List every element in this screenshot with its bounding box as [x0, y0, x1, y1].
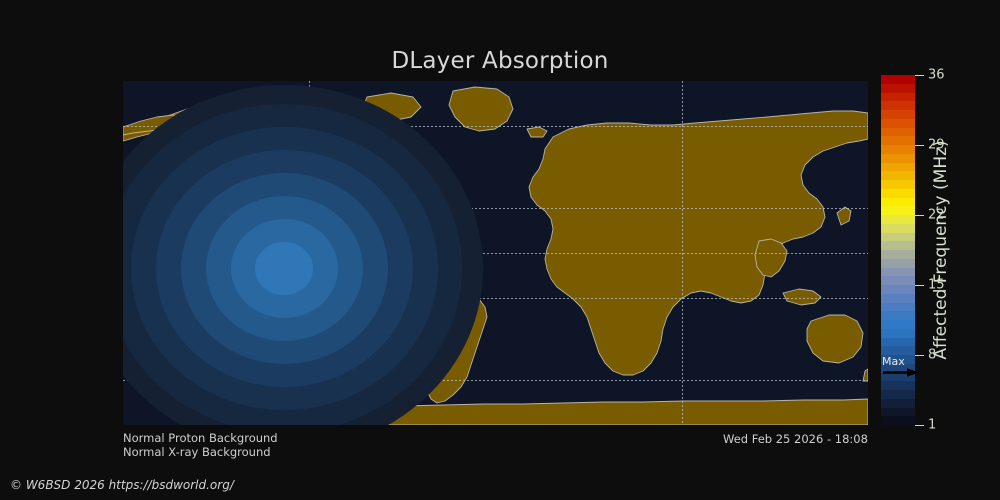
timestamp: Wed Feb 25 2026 - 18:08: [723, 432, 868, 446]
colorbar-segment: [881, 224, 915, 233]
colorbar-segment: [881, 399, 915, 408]
dlayer-absorption-screen: DLayer Absorption: [0, 0, 1000, 500]
colorbar-segment: [881, 303, 915, 312]
colorbar-segment: [881, 75, 915, 84]
colorbar-segment: [881, 250, 915, 259]
colorbar-segment: [881, 276, 915, 285]
colorbar-segment: [881, 206, 915, 215]
world-map[interactable]: [123, 81, 868, 425]
colorbar-segment: [881, 101, 915, 110]
colorbar-segment: [881, 163, 915, 172]
copyright-notice: © W6BSD 2026 https://bsdworld.org/: [10, 478, 234, 492]
colorbar-segment: [881, 381, 915, 390]
colorbar-segment: [881, 189, 915, 198]
colorbar-segment: [881, 110, 915, 119]
colorbar-segment: [881, 338, 915, 347]
colorbar-segment: [881, 154, 915, 163]
colorbar-segment: [881, 390, 915, 399]
colorbar-segment: [881, 416, 915, 425]
colorbar-tick-mark: [915, 145, 924, 146]
colorbar-segment: [881, 136, 915, 145]
colorbar-tick-mark: [915, 425, 924, 426]
colorbar-segment: [881, 285, 915, 294]
colorbar-segment: [881, 329, 915, 338]
colorbar-segment: [881, 119, 915, 128]
colorbar-segment: [881, 259, 915, 268]
colorbar-segment: [881, 198, 915, 207]
colorbar-segment: [881, 346, 915, 355]
max-marker-label: Max: [882, 355, 905, 368]
colorbar-segment: [881, 180, 915, 189]
gridline-lon-90: [682, 81, 683, 425]
colorbar-segment: [881, 128, 915, 137]
colorbar-segment: [881, 408, 915, 417]
colorbar-segment: [881, 311, 915, 320]
colorbar-segment: [881, 268, 915, 277]
colorbar-segment: [881, 294, 915, 303]
proton-status-text: Normal Proton Background: [123, 431, 278, 445]
colorbar-segment: [881, 320, 915, 329]
colorbar-segment: [881, 84, 915, 93]
colorbar-segment: [881, 241, 915, 250]
page-title: DLayer Absorption: [0, 48, 1000, 74]
colorbar-segment: [881, 145, 915, 154]
colorbar-segment: [881, 93, 915, 102]
absorption-band-8: [255, 242, 313, 296]
colorbar-tick-mark: [915, 75, 924, 76]
arrow-right-icon: [883, 368, 919, 377]
colorbar-segment: [881, 215, 915, 224]
colorbar-tick-mark: [915, 215, 924, 216]
colorbar-segment: [881, 171, 915, 180]
xray-status-text: Normal X-ray Background: [123, 445, 271, 459]
colorbar-tick-mark: [915, 285, 924, 286]
colorbar-segment: [881, 233, 915, 242]
colorbar-max-marker: Max: [881, 355, 941, 377]
